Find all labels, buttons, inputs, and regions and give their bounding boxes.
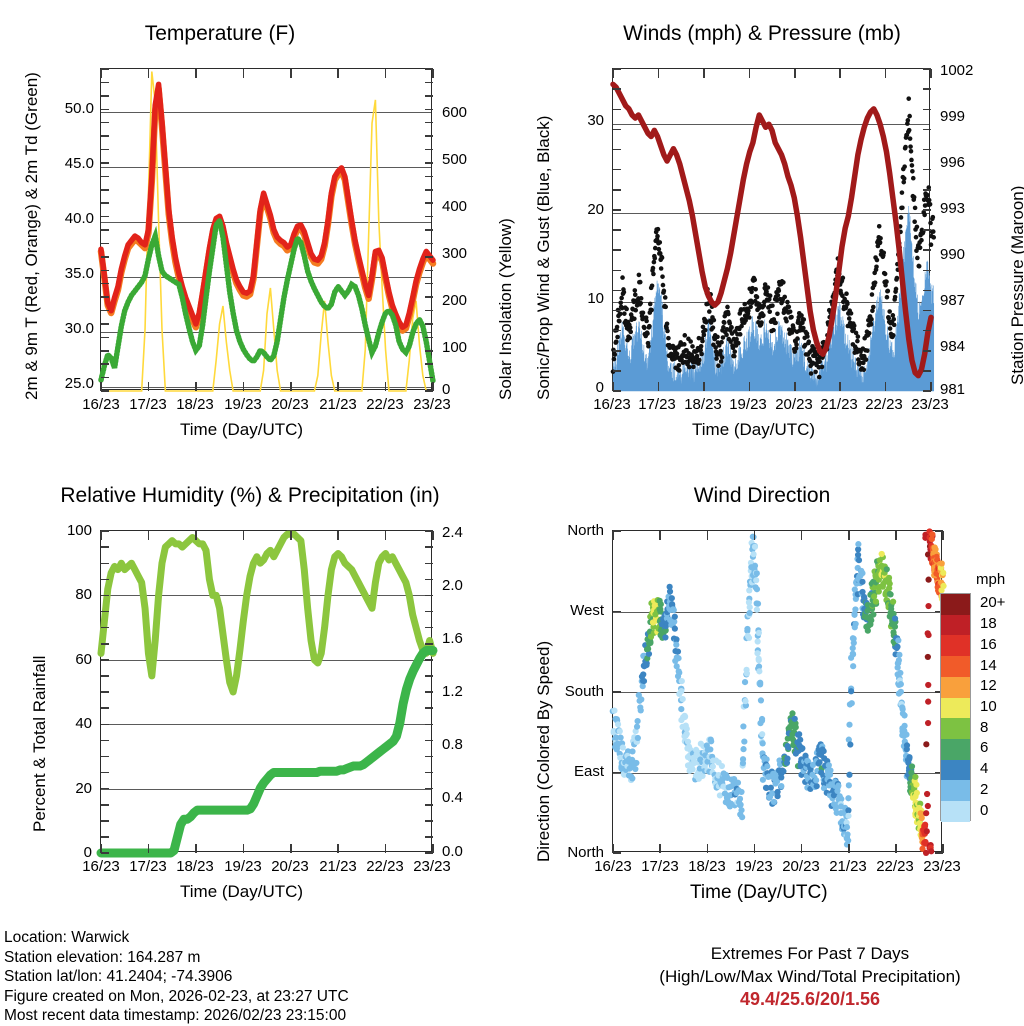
- xtick: 19/23: [216, 396, 270, 413]
- temperature-plot-frame: [100, 68, 432, 390]
- xtick: 16/23: [74, 396, 128, 413]
- axis-tick-mark: [425, 216, 433, 218]
- axis-tick-mark: [425, 740, 433, 742]
- axis-tick-mark: [101, 611, 109, 613]
- winds-ylabel: Sonic/Prop Wind & Gust (Blue, Black): [534, 116, 554, 400]
- extremes-values: 49.4/25.6/20/1.56: [600, 988, 1020, 1011]
- axis-tick-mark: [895, 844, 897, 853]
- ytick: 40: [40, 715, 92, 732]
- axis-tick-mark: [659, 531, 661, 540]
- axis-tick-mark: [935, 530, 943, 532]
- axis-tick-mark: [848, 844, 850, 853]
- xtick: 18/23: [168, 858, 222, 875]
- colorbar-segment: [941, 801, 970, 822]
- winds-y2label: Station Pressure (Maroon): [1008, 186, 1024, 385]
- axis-tick-mark: [794, 69, 796, 78]
- temperature-ylabel: 2m & 9m T (Red, Orange) & 2m Td (Green): [22, 72, 42, 400]
- axis-tick-mark: [749, 69, 751, 78]
- colorbar-tick-label: 0: [980, 802, 988, 819]
- wind-direction-xlabel: Time (Day/UTC): [690, 882, 828, 904]
- axis-tick-mark: [425, 149, 433, 151]
- station-metadata-block: Location: Warwick Station elevation: 164…: [4, 928, 349, 1026]
- axis-tick-mark: [290, 531, 292, 540]
- axis-tick-mark: [923, 310, 931, 312]
- axis-tick-mark: [425, 162, 433, 164]
- axis-tick-mark: [425, 643, 433, 645]
- colorbar-segment: [941, 780, 970, 801]
- axis-tick-mark: [148, 844, 150, 853]
- meta-line-created: Figure created on Mon, 2026-02-23, at 23…: [4, 987, 349, 1007]
- axis-tick-mark: [148, 69, 150, 78]
- axis-tick-mark: [101, 675, 109, 677]
- meta-line-location: Location: Warwick: [4, 928, 349, 948]
- axis-tick-mark: [613, 249, 621, 251]
- axis-tick-mark: [935, 852, 943, 854]
- axis-tick-mark: [749, 382, 751, 391]
- axis-tick-mark: [385, 382, 387, 391]
- axis-tick-mark: [707, 844, 709, 853]
- axis-tick-mark: [101, 627, 109, 629]
- y2tick: 0.8: [442, 736, 463, 753]
- y2tick: 400: [442, 198, 467, 215]
- axis-tick-mark: [923, 350, 931, 352]
- axis-tick-mark: [612, 69, 614, 78]
- ytick: 40.0: [30, 210, 94, 227]
- ytick: East: [536, 763, 604, 780]
- colorbar-tick-label: 16: [980, 636, 997, 653]
- axis-tick-mark: [290, 382, 292, 391]
- axis-tick-mark: [425, 270, 433, 272]
- axis-tick-mark: [923, 270, 931, 272]
- extremes-block: Extremes For Past 7 Days (High/Low/Max W…: [600, 942, 1020, 1011]
- axis-tick-mark: [425, 135, 433, 137]
- axis-tick-mark: [839, 69, 841, 78]
- axis-tick-mark: [895, 531, 897, 540]
- axis-tick-mark: [425, 189, 433, 191]
- axis-tick-mark: [101, 579, 109, 581]
- colorbar-segment: [941, 677, 970, 698]
- axis-tick-mark: [337, 844, 339, 853]
- axis-tick-mark: [613, 109, 621, 111]
- axis-tick-mark: [101, 162, 109, 164]
- axis-tick-mark: [101, 283, 109, 285]
- xtick: 16/23: [586, 858, 640, 875]
- axis-tick-mark: [101, 691, 109, 693]
- axis-tick-mark: [425, 68, 433, 70]
- colorbar-tick-label: 20+: [980, 594, 1005, 611]
- axis-tick-mark: [101, 390, 109, 392]
- axis-tick-mark: [923, 290, 931, 292]
- axis-tick-mark: [101, 659, 109, 661]
- ytick: 35.0: [30, 265, 94, 282]
- axis-tick-mark: [613, 530, 621, 532]
- y2tick: 1.6: [442, 630, 463, 647]
- xtick: 23/23: [405, 396, 459, 413]
- axis-tick-mark: [923, 109, 931, 111]
- axis-tick-mark: [101, 229, 109, 231]
- axis-tick-mark: [425, 707, 433, 709]
- ytick: 100: [40, 522, 92, 539]
- axis-tick-mark: [101, 350, 109, 352]
- axis-tick-mark: [707, 531, 709, 540]
- axis-tick-mark: [703, 382, 705, 391]
- axis-tick-mark: [101, 109, 109, 111]
- colorbar-tick-label: 2: [980, 781, 988, 798]
- axis-tick-mark: [425, 659, 433, 661]
- axis-tick-mark: [613, 209, 621, 211]
- axis-tick-mark: [425, 788, 433, 790]
- axis-tick-mark: [101, 82, 109, 84]
- extremes-subtitle: (High/Low/Max Wind/Total Precipitation): [600, 965, 1020, 988]
- axis-tick-mark: [243, 531, 245, 540]
- xtick: 18/23: [168, 396, 222, 413]
- panel-humidity: Relative Humidity (%) & Precipitation (i…: [0, 462, 512, 917]
- axis-tick-mark: [658, 382, 660, 391]
- axis-tick-mark: [613, 229, 621, 231]
- y2tick: 200: [442, 292, 467, 309]
- winds-plot-frame: [612, 68, 930, 390]
- axis-tick-mark: [425, 546, 433, 548]
- axis-tick-mark: [612, 531, 614, 540]
- axis-tick-mark: [101, 836, 109, 838]
- axis-tick-mark: [432, 531, 434, 540]
- y2tick: 999: [940, 108, 965, 125]
- wind-direction-ylabel: Direction (Colored By Speed): [534, 641, 554, 862]
- axis-tick-mark: [848, 531, 850, 540]
- axis-tick-mark: [101, 852, 109, 854]
- winds-series-svg: [613, 69, 931, 391]
- ytick: 20: [558, 201, 604, 218]
- temperature-xlabel: Time (Day/UTC): [180, 420, 303, 440]
- humidity-ylabel: Percent & Total Rainfall: [30, 656, 50, 832]
- axis-tick-mark: [839, 382, 841, 391]
- axis-tick-mark: [425, 804, 433, 806]
- ytick: 10: [558, 290, 604, 307]
- y2tick: 996: [940, 154, 965, 171]
- axis-tick-mark: [923, 189, 931, 191]
- axis-tick-mark: [613, 88, 621, 90]
- xtick: 18/23: [680, 858, 734, 875]
- axis-tick-mark: [658, 69, 660, 78]
- colorbar-segment: [941, 615, 970, 636]
- xtick: 20/23: [263, 858, 317, 875]
- xtick: 20/23: [263, 396, 317, 413]
- axis-tick-mark: [923, 249, 931, 251]
- xtick: 22/23: [358, 396, 412, 413]
- y2tick: 984: [940, 338, 965, 355]
- xtick: 19/23: [727, 858, 781, 875]
- axis-tick-mark: [613, 852, 621, 854]
- xtick: 22/23: [868, 858, 922, 875]
- y2tick: 300: [442, 245, 467, 262]
- colorbar-segment: [941, 594, 970, 615]
- y2tick: 1002: [940, 62, 973, 79]
- colorbar-tick-label: 12: [980, 677, 997, 694]
- xtick: 23/23: [903, 396, 957, 413]
- axis-tick-mark: [101, 740, 109, 742]
- axis-tick-mark: [613, 772, 621, 774]
- humidity-title: Relative Humidity (%) & Precipitation (i…: [0, 484, 500, 508]
- axis-tick-mark: [101, 772, 109, 774]
- axis-tick-mark: [101, 189, 109, 191]
- axis-tick-mark: [101, 707, 109, 709]
- axis-tick-mark: [425, 724, 433, 726]
- axis-tick-mark: [923, 169, 931, 171]
- axis-tick-mark: [101, 820, 109, 822]
- axis-tick-mark: [425, 176, 433, 178]
- axis-tick-mark: [425, 337, 433, 339]
- axis-tick-mark: [613, 68, 621, 70]
- axis-tick-mark: [243, 69, 245, 78]
- axis-tick-mark: [754, 844, 756, 853]
- axis-tick-mark: [425, 595, 433, 597]
- axis-tick-mark: [801, 531, 803, 540]
- axis-tick-mark: [613, 189, 621, 191]
- wind-speed-colorbar: mph 20+181614121086420: [940, 593, 1024, 833]
- axis-tick-mark: [425, 202, 433, 204]
- axis-tick-mark: [101, 216, 109, 218]
- axis-tick-mark: [101, 95, 109, 97]
- axis-tick-mark: [195, 69, 197, 78]
- axis-tick-mark: [337, 531, 339, 540]
- axis-tick-mark: [613, 611, 621, 613]
- y2tick: 600: [442, 104, 467, 121]
- axis-tick-mark: [923, 68, 931, 70]
- ytick: 0: [558, 379, 604, 396]
- axis-tick-mark: [425, 611, 433, 613]
- xtick: 16/23: [74, 858, 128, 875]
- axis-tick-mark: [101, 243, 109, 245]
- axis-tick-mark: [425, 323, 433, 325]
- y2tick: 0.4: [442, 789, 463, 806]
- axis-tick-mark: [425, 256, 433, 258]
- axis-tick-mark: [659, 844, 661, 853]
- axis-tick-mark: [923, 390, 931, 392]
- xtick: 23/23: [915, 858, 969, 875]
- colorbar-tick-label: 14: [980, 657, 997, 674]
- axis-tick-mark: [148, 531, 150, 540]
- axis-tick-mark: [101, 176, 109, 178]
- wind-direction-plot-frame: [612, 530, 942, 852]
- axis-tick-mark: [425, 310, 433, 312]
- xtick: 22/23: [358, 858, 412, 875]
- colorbar-units-label: mph: [976, 571, 1005, 588]
- axis-tick-mark: [101, 68, 109, 70]
- axis-tick-mark: [148, 382, 150, 391]
- axis-tick-mark: [794, 382, 796, 391]
- axis-tick-mark: [425, 122, 433, 124]
- axis-tick-mark: [101, 202, 109, 204]
- colorbar-segment: [941, 656, 970, 677]
- panel-winds: Winds (mph) & Pressure (mb) Sonic/Prop W…: [512, 0, 1024, 455]
- axis-tick-mark: [337, 69, 339, 78]
- axis-tick-mark: [101, 788, 109, 790]
- axis-tick-mark: [425, 627, 433, 629]
- temperature-series-svg: [101, 69, 433, 391]
- colorbar-tick-label: 18: [980, 615, 997, 632]
- axis-tick-mark: [101, 323, 109, 325]
- axis-tick-mark: [930, 69, 932, 78]
- axis-tick-mark: [101, 563, 109, 565]
- y2tick: 2.4: [442, 524, 463, 541]
- colorbar-segment: [941, 698, 970, 719]
- winds-xlabel: Time (Day/UTC): [692, 420, 815, 440]
- axis-tick-mark: [425, 756, 433, 758]
- colorbar-segment: [941, 760, 970, 781]
- axis-tick-mark: [425, 579, 433, 581]
- axis-tick-mark: [432, 69, 434, 78]
- axis-tick-mark: [243, 382, 245, 391]
- meta-line-latlon: Station lat/lon: 41.2404; -74.3906: [4, 967, 349, 987]
- y2tick: 990: [940, 246, 965, 263]
- ytick: 80: [40, 586, 92, 603]
- axis-tick-mark: [613, 270, 621, 272]
- axis-tick-mark: [100, 531, 102, 540]
- extremes-title: Extremes For Past 7 Days: [600, 942, 1020, 965]
- xtick: 21/23: [311, 396, 365, 413]
- axis-tick-mark: [425, 109, 433, 111]
- y2tick: 100: [442, 339, 467, 356]
- axis-tick-mark: [923, 209, 931, 211]
- colorbar-tick-label: 10: [980, 698, 997, 715]
- axis-tick-mark: [101, 804, 109, 806]
- axis-tick-mark: [425, 836, 433, 838]
- axis-tick-mark: [425, 229, 433, 231]
- axis-tick-mark: [923, 330, 931, 332]
- axis-tick-mark: [613, 330, 621, 332]
- axis-tick-mark: [101, 546, 109, 548]
- axis-tick-mark: [425, 675, 433, 677]
- axis-tick-mark: [613, 691, 621, 693]
- axis-tick-mark: [425, 390, 433, 392]
- axis-tick-mark: [101, 643, 109, 645]
- humidity-xlabel: Time (Day/UTC): [180, 882, 303, 902]
- axis-tick-mark: [801, 844, 803, 853]
- axis-tick-mark: [101, 363, 109, 365]
- ytick: 25.0: [30, 375, 94, 392]
- y2tick: 2.0: [442, 577, 463, 594]
- axis-tick-mark: [613, 149, 621, 151]
- axis-tick-mark: [101, 135, 109, 137]
- axis-tick-mark: [101, 270, 109, 272]
- axis-tick-mark: [337, 382, 339, 391]
- colorbar-segment: [941, 739, 970, 760]
- axis-tick-mark: [385, 531, 387, 540]
- axis-tick-mark: [942, 531, 944, 540]
- xtick: 17/23: [121, 858, 175, 875]
- ytick: 20: [40, 780, 92, 797]
- axis-tick-mark: [613, 350, 621, 352]
- ytick: 60: [40, 651, 92, 668]
- axis-tick-mark: [613, 310, 621, 312]
- colorbar-tick-label: 4: [980, 760, 988, 777]
- axis-tick-mark: [613, 129, 621, 131]
- axis-tick-mark: [923, 129, 931, 131]
- axis-tick-mark: [613, 169, 621, 171]
- ytick: North: [536, 522, 604, 539]
- temperature-title: Temperature (F): [0, 22, 440, 46]
- axis-tick-mark: [425, 95, 433, 97]
- axis-tick-mark: [425, 691, 433, 693]
- axis-tick-mark: [425, 363, 433, 365]
- humidity-series-svg: [101, 531, 433, 853]
- axis-tick-mark: [101, 310, 109, 312]
- y2tick: 1.2: [442, 683, 463, 700]
- colorbar-tick-label: 8: [980, 719, 988, 736]
- axis-tick-mark: [425, 852, 433, 854]
- axis-tick-mark: [425, 243, 433, 245]
- axis-tick-mark: [195, 844, 197, 853]
- axis-tick-mark: [425, 772, 433, 774]
- colorbar-gradient: [940, 593, 971, 821]
- humidity-plot-frame: [100, 530, 432, 852]
- axis-tick-mark: [425, 563, 433, 565]
- xtick: 19/23: [216, 858, 270, 875]
- axis-tick-mark: [101, 296, 109, 298]
- axis-tick-mark: [101, 595, 109, 597]
- axis-tick-mark: [101, 756, 109, 758]
- axis-tick-mark: [613, 390, 621, 392]
- axis-tick-mark: [101, 377, 109, 379]
- axis-tick-mark: [101, 724, 109, 726]
- ytick: West: [536, 602, 604, 619]
- axis-tick-mark: [885, 69, 887, 78]
- y2tick: 500: [442, 151, 467, 168]
- axis-tick-mark: [613, 370, 621, 372]
- ytick: 30.0: [30, 320, 94, 337]
- ytick: South: [536, 683, 604, 700]
- axis-tick-mark: [100, 69, 102, 78]
- axis-tick-mark: [425, 296, 433, 298]
- colorbar-segment: [941, 635, 970, 656]
- axis-tick-mark: [754, 531, 756, 540]
- colorbar-tick-label: 6: [980, 739, 988, 756]
- ytick: 45.0: [30, 155, 94, 172]
- axis-tick-mark: [923, 149, 931, 151]
- meta-line-elevation: Station elevation: 164.287 m: [4, 948, 349, 968]
- axis-tick-mark: [195, 382, 197, 391]
- axis-tick-mark: [923, 229, 931, 231]
- axis-tick-mark: [425, 820, 433, 822]
- axis-tick-mark: [923, 370, 931, 372]
- xtick: 23/23: [405, 858, 459, 875]
- axis-tick-mark: [290, 69, 292, 78]
- wind-direction-scatter-svg: [613, 531, 943, 853]
- axis-tick-mark: [425, 283, 433, 285]
- axis-tick-mark: [425, 377, 433, 379]
- axis-tick-mark: [425, 530, 433, 532]
- wind-direction-title: Wind Direction: [572, 484, 952, 508]
- xtick: 17/23: [633, 858, 687, 875]
- axis-tick-mark: [885, 382, 887, 391]
- axis-tick-mark: [195, 531, 197, 540]
- axis-tick-mark: [101, 122, 109, 124]
- axis-tick-mark: [101, 149, 109, 151]
- axis-tick-mark: [243, 844, 245, 853]
- axis-tick-mark: [101, 337, 109, 339]
- axis-tick-mark: [923, 88, 931, 90]
- axis-tick-mark: [613, 290, 621, 292]
- axis-tick-mark: [101, 256, 109, 258]
- axis-tick-mark: [101, 530, 109, 532]
- xtick: 20/23: [774, 858, 828, 875]
- axis-tick-mark: [425, 82, 433, 84]
- ytick: 50.0: [30, 100, 94, 117]
- y2tick: 993: [940, 200, 965, 217]
- panel-temperature: Temperature (F) 2m & 9m T (Red, Orange) …: [0, 0, 512, 455]
- axis-tick-mark: [385, 69, 387, 78]
- axis-tick-mark: [425, 350, 433, 352]
